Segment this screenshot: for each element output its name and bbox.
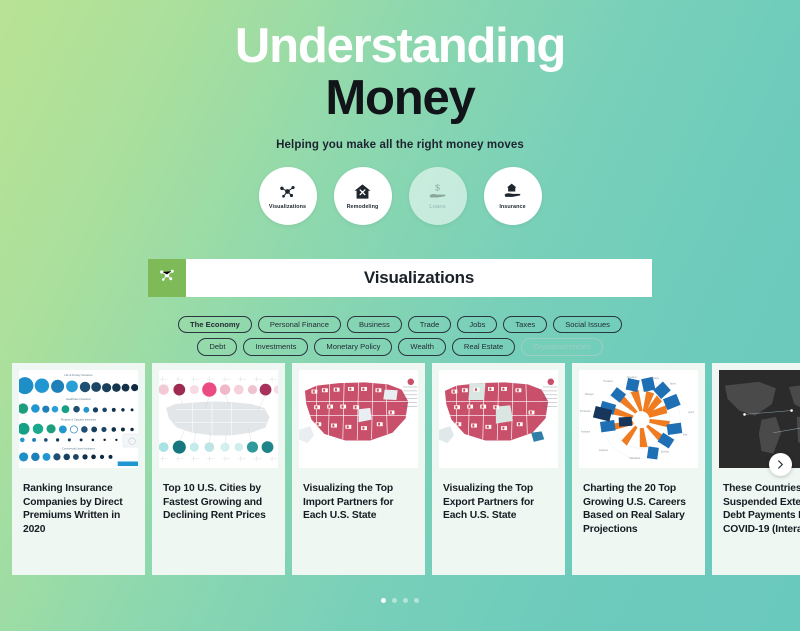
section-header-bar: Visualizations	[148, 259, 652, 297]
visualization-card-title: Top 10 U.S. Cities by Fastest Growing an…	[159, 482, 278, 523]
filter-pill-cryptocurrencies[interactable]: Cryptocurrencies	[521, 338, 602, 355]
visualization-card-title: Charting the 20 Top Growing U.S. Careers…	[579, 482, 698, 537]
visualization-carousel[interactable]: Life & Annuity Insurance Healthcare Insu…	[0, 363, 800, 575]
visualization-card[interactable]: Life & Annuity Insurance Healthcare Insu…	[12, 363, 145, 575]
network-nodes-icon	[278, 182, 297, 201]
page-subtitle: Helping you make all the right money mov…	[0, 139, 800, 151]
visualization-card[interactable]: Visualizing the Top Export Partners for …	[432, 363, 565, 575]
us-map-rent-bubbles-thumbnail	[159, 370, 278, 468]
circle-nav-label: Loans	[429, 204, 445, 210]
section-icon-box	[148, 259, 186, 297]
filter-pill-jobs[interactable]: Jobs	[457, 316, 497, 333]
circle-nav-item-remodeling[interactable]: Remodeling	[334, 167, 392, 225]
circle-nav-item-loans[interactable]: $ Loans	[409, 167, 467, 225]
hand-house-icon	[503, 182, 522, 201]
dark-world-map-thumbnail	[719, 370, 800, 468]
hand-dollar-icon: $	[428, 182, 447, 201]
section-title-box: Visualizations	[186, 259, 652, 297]
circle-nav: Visualizations Remodeling $ Loans	[0, 167, 800, 225]
visualization-card-title: Visualizing the Top Export Partners for …	[439, 482, 558, 523]
svg-text:Technician: Technician	[580, 411, 591, 413]
filter-pill-business[interactable]: Business	[347, 316, 402, 333]
svg-text:$: $	[435, 183, 440, 193]
hero-section: Understanding Money Helping you make all…	[0, 0, 800, 225]
category-filters: The Economy Personal Finance Business Tr…	[0, 316, 800, 356]
circle-nav-label: Remodeling	[347, 204, 379, 210]
page-title-line-1: Understanding	[0, 22, 800, 72]
circle-nav-label: Insurance	[499, 204, 525, 210]
carousel-pagination-dots	[0, 598, 800, 603]
svg-text:Property & Casualty Insurance: Property & Casualty Insurance	[61, 417, 97, 421]
filter-pill-social-issues[interactable]: Social Issues	[553, 316, 622, 333]
filter-pill-personal-finance[interactable]: Personal Finance	[258, 316, 341, 333]
page-title: Understanding Money	[0, 22, 800, 124]
filter-pill-the-economy[interactable]: The Economy	[178, 316, 252, 333]
svg-text:Assistant: Assistant	[581, 431, 590, 434]
circle-nav-item-visualizations[interactable]: Visualizations	[259, 167, 317, 225]
carousel-next-button[interactable]	[769, 453, 792, 476]
svg-text:Healthcare Insurance: Healthcare Insurance	[66, 397, 91, 401]
svg-text:Life & Annuity Insurance: Life & Annuity Insurance	[64, 373, 93, 377]
visualization-card-title: Ranking Insurance Companies by Direct Pr…	[19, 482, 138, 537]
carousel-dot-2[interactable]	[392, 598, 397, 603]
svg-text:Engineer: Engineer	[599, 449, 608, 452]
svg-text:Scientist: Scientist	[661, 450, 670, 453]
filter-pill-investments[interactable]: Investments	[243, 338, 308, 355]
svg-text:Statistician: Statistician	[629, 457, 640, 460]
carousel-dot-3[interactable]	[403, 598, 408, 603]
circle-nav-item-insurance[interactable]: Insurance	[484, 167, 542, 225]
network-nodes-icon	[158, 266, 176, 289]
filter-pill-real-estate[interactable]: Real Estate	[452, 338, 515, 355]
us-map-import-red-thumbnail	[299, 370, 418, 468]
svg-text:Aide: Aide	[683, 433, 688, 436]
section-title: Visualizations	[364, 268, 474, 288]
radial-sunburst-chart-thumbnail: NurseAnalyst DeveloperTherapist ManagerT…	[579, 370, 698, 468]
svg-text:Therapist: Therapist	[603, 380, 613, 383]
filter-pill-debt[interactable]: Debt	[197, 338, 237, 355]
filter-pill-wealth[interactable]: Wealth	[398, 338, 446, 355]
us-map-export-red-thumbnail	[439, 370, 558, 468]
svg-text:Commercial Lines Insurance: Commercial Lines Insurance	[62, 447, 96, 451]
page-title-line-2: Money	[0, 74, 800, 124]
visualization-card[interactable]: Top 10 U.S. Cities by Fastest Growing an…	[152, 363, 285, 575]
bubble-rows-chart-thumbnail: Life & Annuity Insurance Healthcare Insu…	[19, 370, 138, 468]
svg-text:Nurse: Nurse	[670, 382, 677, 385]
svg-text:Developer: Developer	[627, 376, 637, 379]
svg-text:Agent: Agent	[688, 411, 694, 414]
carousel-dot-4[interactable]	[414, 598, 419, 603]
visualization-card[interactable]: Visualizing the Top Import Partners for …	[292, 363, 425, 575]
category-filter-row-1: The Economy Personal Finance Business Tr…	[0, 316, 800, 333]
visualization-card-title: These Countries Suspended External Debt …	[719, 482, 800, 537]
carousel-dot-1[interactable]	[381, 598, 386, 603]
svg-text:Manager: Manager	[585, 393, 594, 396]
filter-pill-monetary-policy[interactable]: Monetary Policy	[314, 338, 392, 355]
svg-text:Analyst: Analyst	[652, 377, 660, 380]
filter-pill-trade[interactable]: Trade	[408, 316, 452, 333]
house-tools-icon	[353, 182, 372, 201]
visualization-card[interactable]: NurseAnalyst DeveloperTherapist ManagerT…	[572, 363, 705, 575]
chevron-right-icon	[776, 456, 785, 474]
filter-pill-taxes[interactable]: Taxes	[503, 316, 547, 333]
category-filter-row-2: Debt Investments Monetary Policy Wealth …	[0, 338, 800, 355]
circle-nav-label: Visualizations	[269, 204, 306, 210]
carousel-track: Life & Annuity Insurance Healthcare Insu…	[0, 363, 800, 575]
visualization-card-title: Visualizing the Top Import Partners for …	[299, 482, 418, 523]
